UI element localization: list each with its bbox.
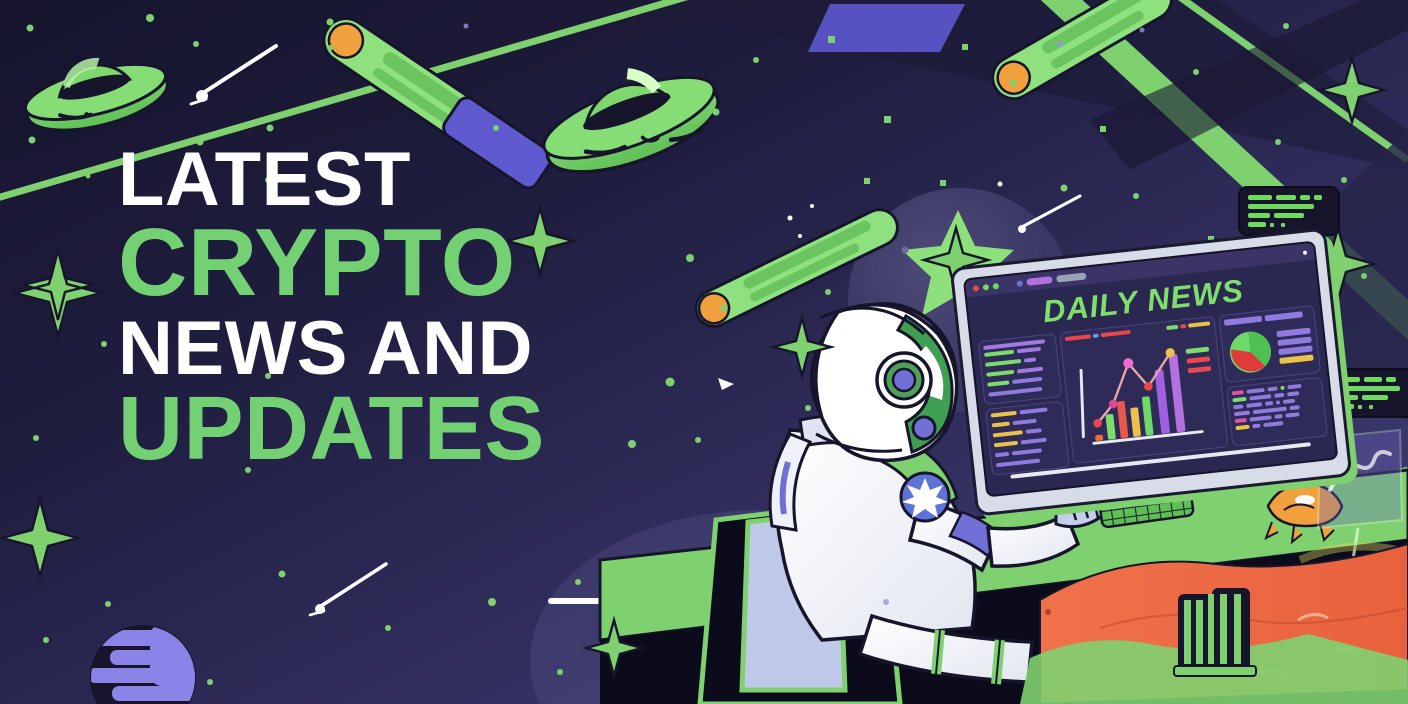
left-card-bottom[interactable] — [985, 401, 1070, 476]
chart-legend — [1185, 347, 1211, 374]
chrome-dot-blue[interactable] — [1016, 280, 1023, 287]
chrome-dot-green-1[interactable] — [983, 284, 990, 291]
headline-line-2: CRYPTO — [118, 220, 678, 306]
stats-card[interactable] — [1226, 377, 1328, 447]
chart-card[interactable] — [1059, 316, 1228, 464]
headline-line-4: UPDATES — [118, 389, 678, 470]
left-card-top[interactable] — [978, 333, 1062, 405]
chrome-status-dot — [1303, 250, 1307, 254]
monitor[interactable]: DAILY NEWS — [950, 227, 1353, 516]
headline-line-1: LATEST — [118, 146, 678, 214]
chrome-dot-red[interactable] — [973, 285, 980, 292]
monitor-screen[interactable]: DAILY NEWS — [963, 241, 1339, 498]
right-column — [1218, 305, 1328, 447]
chrome-tab-active[interactable] — [1026, 276, 1053, 286]
chrome-dot-green-2[interactable] — [992, 282, 999, 289]
combo-chart — [1066, 331, 1222, 450]
pie-chart — [1225, 327, 1276, 378]
bar-series — [1087, 354, 1185, 441]
pie-card[interactable] — [1218, 305, 1321, 383]
chrome-tab-inactive[interactable] — [1056, 272, 1087, 282]
left-column — [978, 333, 1070, 473]
headline-block: LATEST CRYPTO NEWS AND UPDATES — [118, 146, 678, 470]
headline-line-3: NEWS AND — [118, 315, 678, 383]
banner-canvas: LATEST CRYPTO NEWS AND UPDATES — [0, 0, 1408, 704]
